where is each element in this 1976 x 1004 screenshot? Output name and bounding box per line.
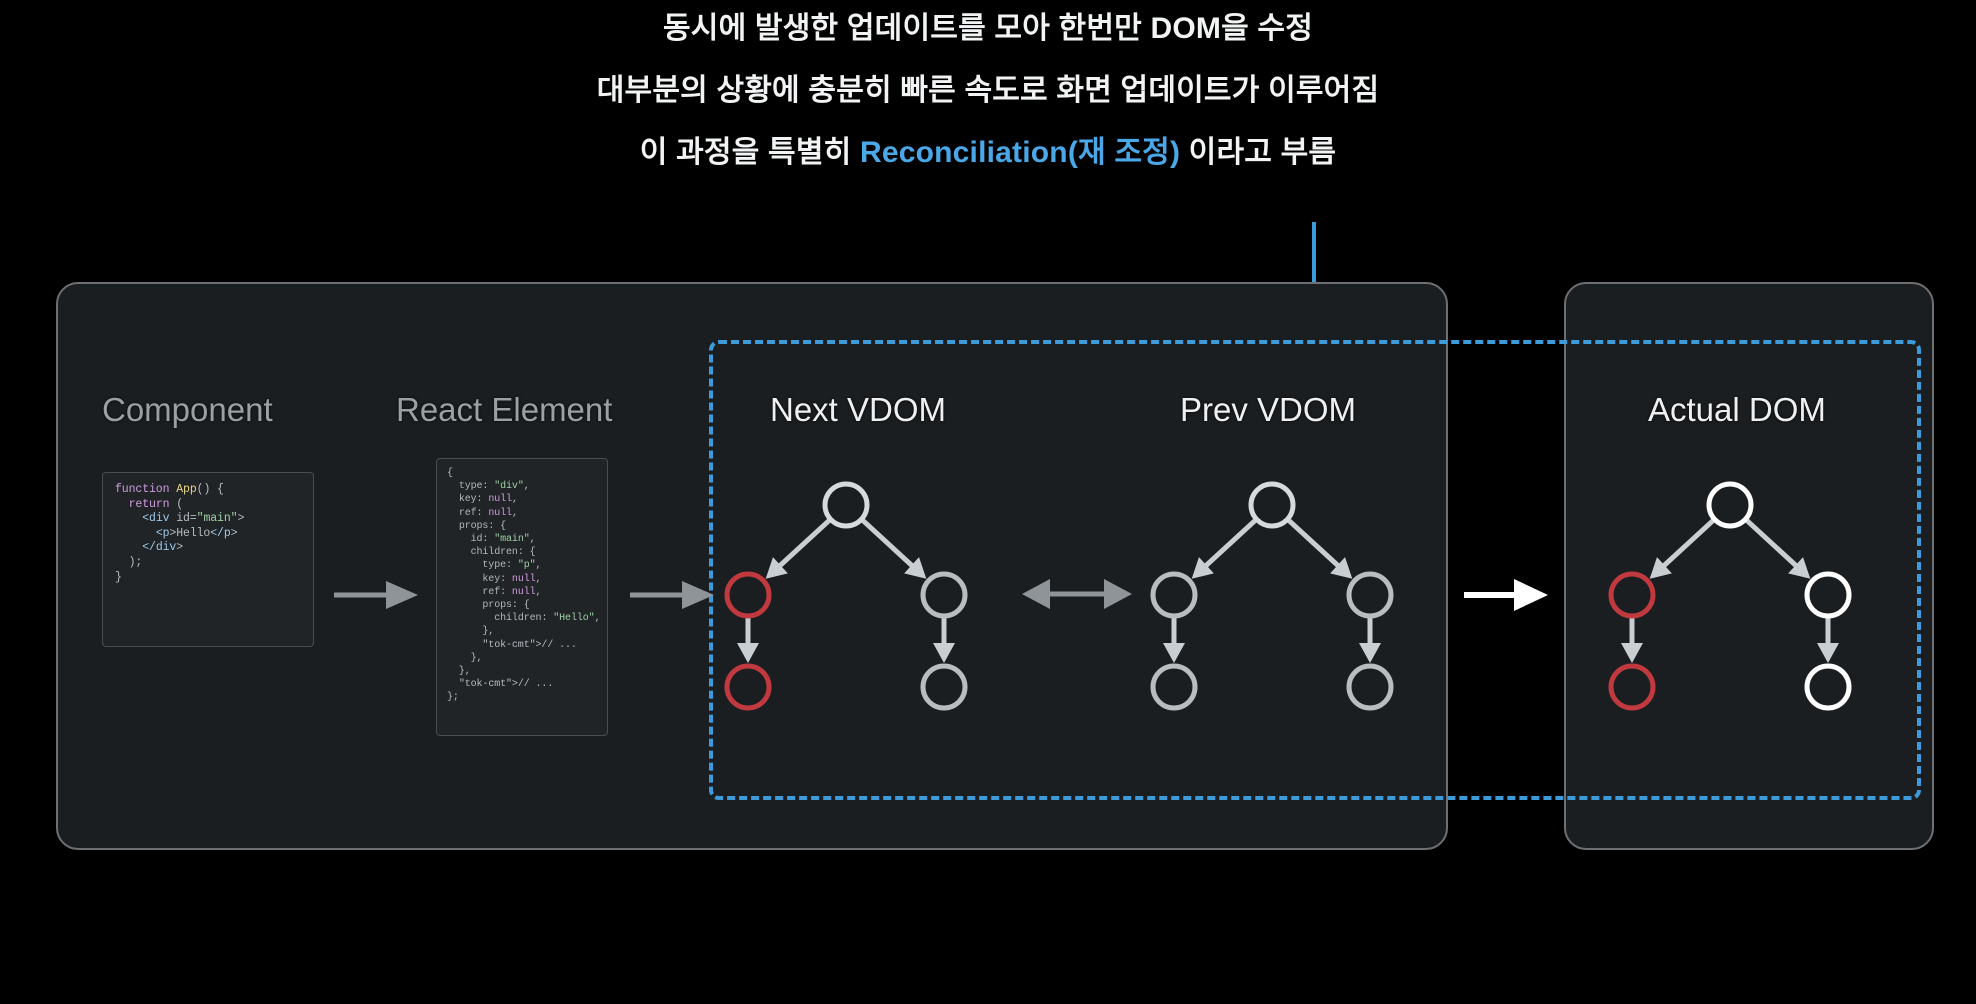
code-line: children: "Hello", <box>447 612 597 625</box>
component-code-block: function App() { return ( <div id="main"… <box>102 472 314 647</box>
arrow-right-icon-component-to-element <box>334 575 418 615</box>
code-line: props: { <box>447 599 597 612</box>
code-line: "tok-cmt">// ... <box>447 678 597 691</box>
react-element-code-block: { type: "div", key: null, ref: null, pro… <box>436 458 608 736</box>
tree-node-right <box>1807 574 1849 616</box>
code-line: }, <box>447 652 597 665</box>
tree-next-vdom <box>706 450 986 750</box>
tree-node-root <box>1709 484 1751 526</box>
code-line: "tok-cmt">// ... <box>447 639 597 652</box>
tree-edge-arrowhead <box>1621 643 1643 663</box>
code-line: }; <box>447 691 597 704</box>
caption-line-2: 대부분의 상황에 충분히 빠른 속도로 화면 업데이트가 이루어짐 <box>0 76 1976 106</box>
tree-edge <box>1662 519 1714 567</box>
code-line: <p>Hello</p> <box>115 527 301 542</box>
tree-edge <box>1287 519 1339 567</box>
code-line: }, <box>447 625 597 638</box>
code-line: ); <box>115 556 301 571</box>
heading-component: Component <box>102 393 273 426</box>
code-line: { <box>447 467 597 480</box>
tree-edge-arrowhead <box>737 643 759 663</box>
code-line: </div> <box>115 541 301 556</box>
tree-edge <box>1204 519 1256 567</box>
tree-edge-arrowhead <box>1163 643 1185 663</box>
caption-reconciliation-term: Reconciliation(재 조정) <box>860 136 1180 169</box>
tree-actual-dom <box>1590 450 1870 750</box>
tree-node-left-child <box>727 666 769 708</box>
tree-edge-arrowhead <box>1359 643 1381 663</box>
tree-node-right <box>1349 574 1391 616</box>
arrow-right-icon-element-to-vdom <box>630 575 714 615</box>
tree-node-left <box>727 574 769 616</box>
tree-edge-arrowhead <box>1817 643 1839 663</box>
code-line: <div id="main"> <box>115 512 301 527</box>
heading-next-vdom: Next VDOM <box>770 393 946 426</box>
caption-line-3-suffix: 이라고 부름 <box>1180 136 1336 169</box>
code-line: type: "p", <box>447 559 597 572</box>
tree-node-root <box>1251 484 1293 526</box>
code-line: key: null, <box>447 493 597 506</box>
code-line: type: "div", <box>447 480 597 493</box>
tree-node-root <box>825 484 867 526</box>
code-line: key: null, <box>447 573 597 586</box>
code-line: function App() { <box>115 483 301 498</box>
tree-edge <box>778 519 830 567</box>
tree-edge <box>861 519 913 567</box>
tree-prev-vdom <box>1132 450 1412 750</box>
tree-node-right-child <box>1807 666 1849 708</box>
code-line: ref: null, <box>447 507 597 520</box>
arrow-left-right-icon-vdom-compare <box>1022 573 1132 615</box>
heading-actual-dom: Actual DOM <box>1648 393 1826 426</box>
code-line: return ( <box>115 498 301 513</box>
tree-node-right <box>923 574 965 616</box>
caption-line-3: 이 과정을 특별히 Reconciliation(재 조정) 이라고 부름 <box>0 138 1976 168</box>
code-line: } <box>115 571 301 586</box>
code-line: ref: null, <box>447 586 597 599</box>
heading-prev-vdom: Prev VDOM <box>1180 393 1356 426</box>
tree-edge-arrowhead <box>933 643 955 663</box>
code-line: props: { <box>447 520 597 533</box>
tree-edge <box>1745 519 1797 567</box>
tree-node-right-child <box>1349 666 1391 708</box>
code-line: children: { <box>447 546 597 559</box>
code-line: }, <box>447 665 597 678</box>
arrow-right-icon-vdom-to-dom <box>1464 575 1548 615</box>
tree-node-right-child <box>923 666 965 708</box>
tree-node-left-child <box>1153 666 1195 708</box>
tree-node-left-child <box>1611 666 1653 708</box>
diagram-canvas: 동시에 발생한 업데이트를 모아 한번만 DOM을 수정 대부분의 상황에 충분… <box>0 0 1976 1004</box>
heading-react-element: React Element <box>396 393 612 426</box>
caption-line-3-prefix: 이 과정을 특별히 <box>640 136 860 169</box>
tree-node-left <box>1611 574 1653 616</box>
caption-block: 동시에 발생한 업데이트를 모아 한번만 DOM을 수정 대부분의 상황에 충분… <box>0 14 1976 168</box>
code-line: id: "main", <box>447 533 597 546</box>
tree-node-left <box>1153 574 1195 616</box>
caption-line-1: 동시에 발생한 업데이트를 모아 한번만 DOM을 수정 <box>0 14 1976 44</box>
